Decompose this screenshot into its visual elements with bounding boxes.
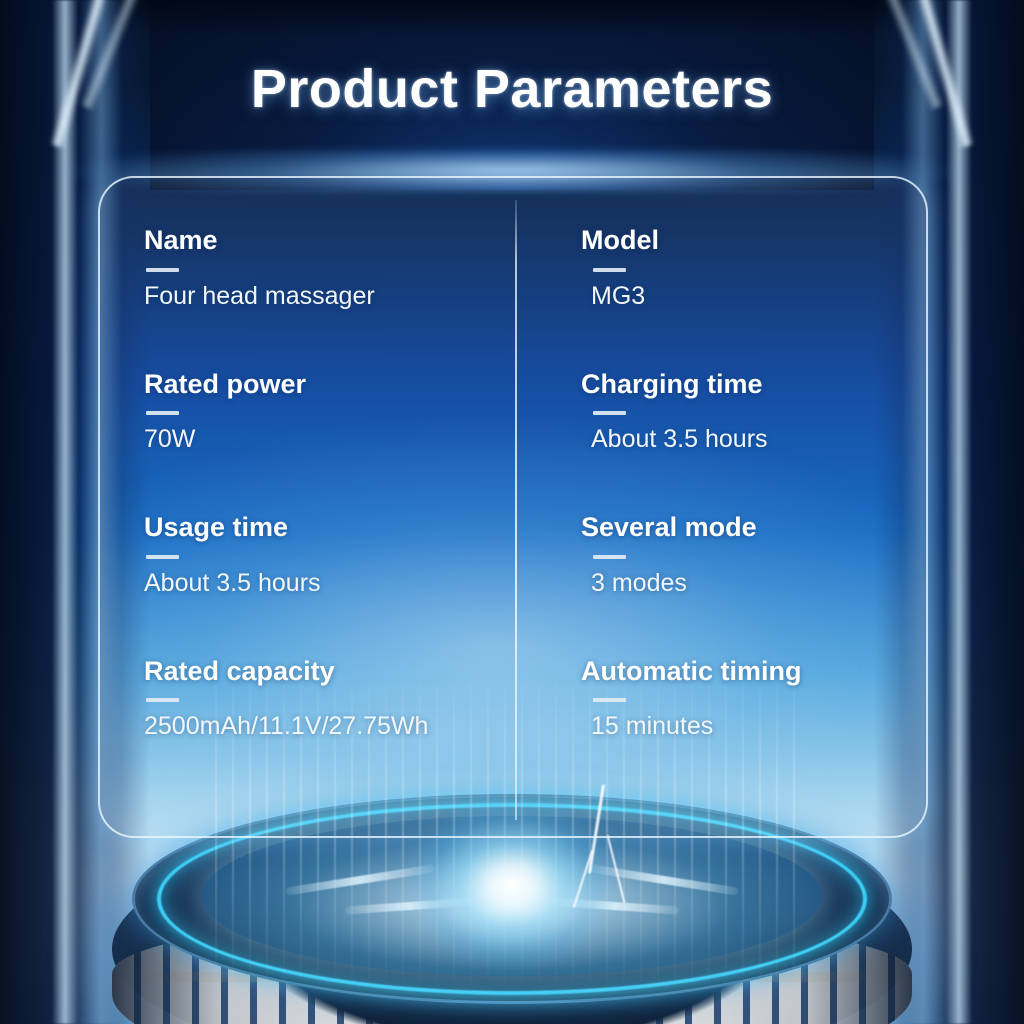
- product-parameters-infographic: Product Parameters Name Four head massag…: [0, 0, 1024, 1024]
- spec-grid: Name Four head massager Model MG3 Rated …: [100, 178, 926, 836]
- spec-value: 3 modes: [581, 569, 926, 598]
- spec-underline-rule: [593, 555, 626, 559]
- spec-underline-rule: [593, 411, 626, 415]
- spec-underline-rule: [593, 698, 626, 702]
- spec-item-automatic-timing: Automatic timing 15 minutes: [513, 657, 926, 801]
- spec-item-model: Model MG3: [513, 226, 926, 370]
- spec-value: About 3.5 hours: [581, 425, 926, 454]
- spec-label: Several mode: [581, 513, 926, 543]
- spec-value: 70W: [144, 425, 513, 454]
- spec-label: Name: [144, 226, 513, 256]
- spec-value: About 3.5 hours: [144, 569, 513, 598]
- spec-item-rated-power: Rated power 70W: [100, 370, 513, 514]
- spec-item-rated-capacity: Rated capacity 2500mAh/11.1V/27.75Wh: [100, 657, 513, 801]
- spec-underline-rule: [146, 698, 179, 702]
- spec-underline-rule: [146, 268, 179, 272]
- page-title: Product Parameters: [0, 58, 1024, 120]
- spec-value: 15 minutes: [581, 712, 926, 741]
- spec-label: Rated capacity: [144, 657, 513, 687]
- spec-value: MG3: [581, 282, 926, 311]
- spec-label: Rated power: [144, 370, 513, 400]
- spec-value: Four head massager: [144, 282, 513, 311]
- spec-item-several-mode: Several mode 3 modes: [513, 513, 926, 657]
- spec-label: Model: [581, 226, 926, 256]
- spec-label: Usage time: [144, 513, 513, 543]
- spec-item-charging-time: Charging time About 3.5 hours: [513, 370, 926, 514]
- spec-card: Name Four head massager Model MG3 Rated …: [98, 176, 928, 838]
- spec-label: Automatic timing: [581, 657, 926, 687]
- spec-underline-rule: [593, 268, 626, 272]
- spec-item-usage-time: Usage time About 3.5 hours: [100, 513, 513, 657]
- spec-label: Charging time: [581, 370, 926, 400]
- spec-underline-rule: [146, 411, 179, 415]
- background-ceiling-top: [0, 0, 1024, 36]
- spec-underline-rule: [146, 555, 179, 559]
- spec-value: 2500mAh/11.1V/27.75Wh: [144, 712, 513, 741]
- spec-item-name: Name Four head massager: [100, 226, 513, 370]
